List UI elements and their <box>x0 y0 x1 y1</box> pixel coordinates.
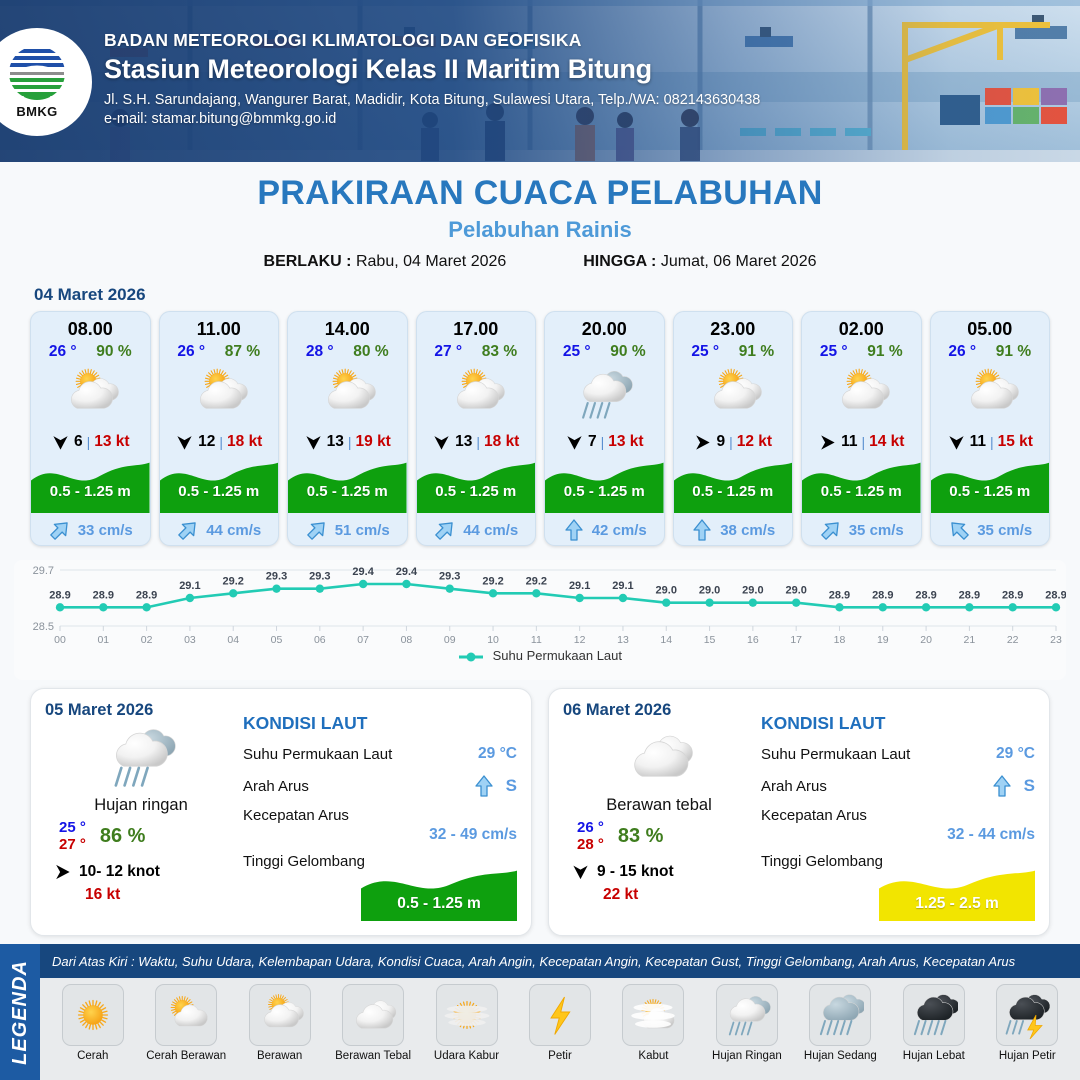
direction-arrow-icon <box>175 432 194 453</box>
panel-temps: 26 ° 28 ° <box>577 819 604 854</box>
svg-text:04: 04 <box>227 634 239 646</box>
valid-until-value: Jumat, 06 Maret 2026 <box>661 253 817 270</box>
svg-text:15: 15 <box>704 634 716 646</box>
current-dir-label: Arah Arus <box>243 778 472 795</box>
legend-item-label: Berawan Tebal <box>335 1050 411 1063</box>
svg-text:28.9: 28.9 <box>959 589 980 601</box>
station-address: Jl. S.H. Sarundajang, Wangurer Barat, Ma… <box>104 92 760 108</box>
card-humidity: 91 % <box>996 343 1031 361</box>
card-current-speed: 42 cm/s <box>592 522 647 539</box>
card-current-speed: 35 cm/s <box>849 522 904 539</box>
card-wind-row: 12 | 18 kt <box>160 425 279 459</box>
svg-text:29.3: 29.3 <box>309 571 330 583</box>
valid-from-label: BERLAKU : <box>264 253 352 270</box>
svg-text:05: 05 <box>271 634 283 646</box>
legend-item-label: Cerah Berawan <box>146 1050 226 1063</box>
card-temp-hum-row: 25 ° 90 % <box>545 343 664 361</box>
svg-text:17: 17 <box>790 634 802 646</box>
card-current-speed: 44 cm/s <box>206 522 261 539</box>
panel-gust: 16 kt <box>45 886 237 904</box>
card-wave: 0.5 - 1.25 m <box>674 457 793 523</box>
card-humidity: 91 % <box>867 343 902 361</box>
weather-icon-hujan-ringan <box>106 722 176 792</box>
legend-item: Udara Kabur <box>420 984 513 1063</box>
hourly-forecast-card: 17.00 27 ° 83 % <box>416 311 537 546</box>
card-wave-height: 0.5 - 1.25 m <box>931 483 1050 500</box>
card-humidity: 90 % <box>96 343 131 361</box>
card-wind-speed: 13 <box>455 433 472 451</box>
sst-value: 29 °C <box>996 745 1035 763</box>
svg-text:22: 22 <box>1007 634 1019 646</box>
svg-text:10: 10 <box>487 634 499 646</box>
card-temperature: 26 ° <box>49 343 77 361</box>
card-time: 17.00 <box>417 319 536 340</box>
panel-wind-row: 10- 12 knot <box>45 862 237 882</box>
legend-item: Cerah Berawan <box>139 984 232 1063</box>
legend-item: Hujan Lebat <box>887 984 980 1063</box>
sst-chart: 29.728.500010203040506070809101112131415… <box>14 560 1066 680</box>
card-weather-icon <box>802 363 921 425</box>
svg-text:28.9: 28.9 <box>136 589 157 601</box>
card-wave: 0.5 - 1.25 m <box>288 457 407 523</box>
valid-from-value: Rabu, 04 Maret 2026 <box>356 253 506 270</box>
weather-icon-hujan-sedang <box>816 991 864 1039</box>
svg-text:29.1: 29.1 <box>179 580 200 592</box>
direction-arrow-icon <box>51 432 70 453</box>
card-wave-height: 0.5 - 1.25 m <box>160 483 279 500</box>
sst-label: Suhu Permukaan Laut <box>243 746 478 763</box>
card-gust: 12 kt <box>737 433 772 451</box>
direction-arrow-icon <box>571 862 590 882</box>
legend-item: Berawan Tebal <box>326 984 419 1063</box>
card-wind-speed: 13 <box>327 433 344 451</box>
card-time: 14.00 <box>288 319 407 340</box>
card-wind-speed: 6 <box>74 433 83 451</box>
svg-text:06: 06 <box>314 634 326 646</box>
sst-label: Suhu Permukaan Laut <box>761 746 996 763</box>
sst-value: 29 °C <box>478 745 517 763</box>
legend-icon-box <box>996 984 1058 1046</box>
card-separator: | <box>729 434 733 450</box>
panel-wind-row: 9 - 15 knot <box>563 862 755 882</box>
hourly-forecast-card: 20.00 25 ° 90 % <box>544 311 665 546</box>
card-humidity: 80 % <box>353 343 388 361</box>
panel-humidity: 86 % <box>100 825 146 848</box>
card-wave-height: 0.5 - 1.25 m <box>802 483 921 500</box>
svg-text:00: 00 <box>54 634 66 646</box>
hourly-forecast-card: 14.00 28 ° 80 % <box>287 311 408 546</box>
direction-arrow-icon <box>947 432 966 453</box>
panel-weather-icon <box>563 722 755 792</box>
svg-text:29.1: 29.1 <box>569 580 590 592</box>
legend-side-label: LEGENDA <box>9 960 32 1065</box>
card-current-speed: 33 cm/s <box>78 522 133 539</box>
weather-icon-hujan-lebat <box>910 991 958 1039</box>
card-temp-hum-row: 25 ° 91 % <box>674 343 793 361</box>
legend-item-label: Udara Kabur <box>434 1050 499 1063</box>
panel-weather-icon <box>45 722 237 792</box>
card-wave: 0.5 - 1.25 m <box>802 457 921 523</box>
svg-text:12: 12 <box>574 634 586 646</box>
card-time: 11.00 <box>160 319 279 340</box>
panel-temp-min: 26 ° <box>577 819 604 836</box>
card-wind-row: 6 | 13 kt <box>31 425 150 459</box>
legend-item-label: Kabut <box>638 1050 668 1063</box>
card-temp-hum-row: 28 ° 80 % <box>288 343 407 361</box>
card-wave-height: 0.5 - 1.25 m <box>31 483 150 500</box>
card-wave: 0.5 - 1.25 m <box>160 457 279 523</box>
card-wind-row: 13 | 19 kt <box>288 425 407 459</box>
svg-text:28.9: 28.9 <box>872 589 893 601</box>
hourly-forecast-card: 23.00 25 ° 91 % <box>673 311 794 546</box>
svg-text:14: 14 <box>660 634 672 646</box>
card-humidity: 87 % <box>225 343 260 361</box>
header-text-block: BADAN METEOROLOGI KLIMATOLOGI DAN GEOFIS… <box>104 30 760 127</box>
legend-item: Cerah <box>46 984 139 1063</box>
bmkg-logo-mark <box>6 45 68 103</box>
card-weather-icon <box>288 363 407 425</box>
svg-text:28.9: 28.9 <box>915 589 936 601</box>
card-temperature: 28 ° <box>306 343 334 361</box>
svg-text:01: 01 <box>97 634 109 646</box>
card-wave-height: 0.5 - 1.25 m <box>674 483 793 500</box>
card-wind-speed: 7 <box>588 433 597 451</box>
panel-date: 06 Maret 2026 <box>563 701 755 720</box>
legend-note: Dari Atas Kiri : Waktu, Suhu Udara, Kele… <box>40 944 1080 978</box>
page-title: PRAKIRAAN CUACA PELABUHAN <box>0 174 1080 213</box>
sea-condition-title: KONDISI LAUT <box>761 713 1035 734</box>
legend-item-label: Hujan Lebat <box>903 1050 965 1063</box>
panel-wave-box: 1.25 - 2.5 m <box>879 865 1035 921</box>
svg-text:02: 02 <box>141 634 153 646</box>
card-weather-icon <box>674 363 793 425</box>
weather-icon-udara-kabur <box>443 991 491 1039</box>
card-wave: 0.5 - 1.25 m <box>417 457 536 523</box>
agency-name: BADAN METEOROLOGI KLIMATOLOGI DAN GEOFIS… <box>104 30 760 51</box>
validity-row: BERLAKU : Rabu, 04 Maret 2026 HINGGA : J… <box>0 253 1080 271</box>
direction-arrow-icon <box>53 862 72 882</box>
card-gust: 13 kt <box>608 433 643 451</box>
svg-text:29.4: 29.4 <box>396 566 418 578</box>
card-temperature: 26 ° <box>948 343 976 361</box>
svg-text:29.2: 29.2 <box>526 575 547 587</box>
card-temperature: 25 ° <box>563 343 591 361</box>
legend-icon-box <box>436 984 498 1046</box>
hourly-forecast-card: 11.00 26 ° 87 % <box>159 311 280 546</box>
weather-icon-berawan <box>704 365 762 423</box>
svg-text:29.0: 29.0 <box>742 585 763 597</box>
card-separator: | <box>348 434 352 450</box>
card-weather-icon <box>160 363 279 425</box>
page-subtitle: Pelabuhan Rainis <box>0 217 1080 243</box>
svg-text:16: 16 <box>747 634 759 646</box>
card-temp-hum-row: 26 ° 90 % <box>31 343 150 361</box>
current-speed-value: 32 - 44 cm/s <box>761 826 1035 844</box>
card-temperature: 25 ° <box>691 343 719 361</box>
card-weather-icon <box>417 363 536 425</box>
current-speed-label: Kecepatan Arus <box>243 807 517 824</box>
daily-summary-row: 05 Maret 2026 Hujan ringan 25 ° <box>0 680 1080 936</box>
current-dir-row: Arah Arus S <box>243 774 517 798</box>
svg-text:13: 13 <box>617 634 629 646</box>
svg-text:21: 21 <box>964 634 976 646</box>
svg-text:28.5: 28.5 <box>33 621 54 633</box>
weather-icon-berawan <box>318 365 376 423</box>
card-wave-height: 0.5 - 1.25 m <box>545 483 664 500</box>
card-wind-speed: 12 <box>198 433 215 451</box>
legend-marker-icon <box>458 651 484 663</box>
card-current-speed: 44 cm/s <box>463 522 518 539</box>
card-wind-row: 11 | 14 kt <box>802 425 921 459</box>
svg-text:29.3: 29.3 <box>266 571 287 583</box>
panel-wave-value: 0.5 - 1.25 m <box>361 895 517 913</box>
card-temperature: 27 ° <box>434 343 462 361</box>
svg-text:28.9: 28.9 <box>1045 589 1066 601</box>
legend-item: Petir <box>513 984 606 1063</box>
card-temperature: 26 ° <box>177 343 205 361</box>
legend-item-label: Berawan <box>257 1050 302 1063</box>
card-weather-icon <box>545 363 664 425</box>
card-time: 02.00 <box>802 319 921 340</box>
weather-icon-berawan <box>832 365 890 423</box>
svg-text:29.4: 29.4 <box>352 566 374 578</box>
legend-icon-box <box>716 984 778 1046</box>
legend-item-label: Hujan Sedang <box>804 1050 877 1063</box>
svg-text:11: 11 <box>531 634 542 646</box>
svg-text:28.9: 28.9 <box>1002 589 1023 601</box>
hourly-forecast-card: 02.00 25 ° 91 % <box>801 311 922 546</box>
panel-wave-value: 1.25 - 2.5 m <box>879 895 1035 913</box>
hourly-forecast-card: 05.00 26 ° 91 % <box>930 311 1051 546</box>
forecast-day-label: 04 Maret 2026 <box>34 285 1080 305</box>
svg-text:29.0: 29.0 <box>656 585 677 597</box>
direction-arrow-icon <box>432 432 451 453</box>
weather-icon-berawan <box>61 365 119 423</box>
panel-temp-hum: 26 ° 28 ° 83 % <box>563 819 755 854</box>
weather-icon-hujan-petir <box>1003 991 1051 1039</box>
weather-icon-cerah-berawan <box>162 991 210 1039</box>
current-speed-label: Kecepatan Arus <box>761 807 1035 824</box>
card-wind-row: 11 | 15 kt <box>931 425 1050 459</box>
card-current-speed: 38 cm/s <box>720 522 775 539</box>
svg-text:18: 18 <box>834 634 846 646</box>
svg-text:29.2: 29.2 <box>482 575 503 587</box>
card-weather-icon <box>31 363 150 425</box>
panel-temp-max: 27 ° <box>59 836 86 853</box>
legend-icon-box <box>342 984 404 1046</box>
card-separator: | <box>219 434 223 450</box>
card-current-speed: 35 cm/s <box>977 522 1032 539</box>
card-separator: | <box>87 434 91 450</box>
card-wave: 0.5 - 1.25 m <box>931 457 1050 523</box>
card-separator: | <box>476 434 480 450</box>
card-wind-speed: 9 <box>716 433 725 451</box>
card-wave-height: 0.5 - 1.25 m <box>288 483 407 500</box>
hourly-forecast-card: 08.00 26 ° 90 % <box>30 311 151 546</box>
card-wind-row: 9 | 12 kt <box>674 425 793 459</box>
legend-icon-box <box>622 984 684 1046</box>
weather-icon-berawan-tebal <box>349 991 397 1039</box>
legend-icon-box <box>903 984 965 1046</box>
weather-icon-hujan-ringan <box>575 365 633 423</box>
sst-row: Suhu Permukaan Laut 29 °C <box>761 745 1035 763</box>
current-speed-value: 32 - 49 cm/s <box>243 826 517 844</box>
panel-right: KONDISI LAUT Suhu Permukaan Laut 29 °C A… <box>237 701 517 923</box>
current-dir-value: S <box>1024 776 1035 796</box>
weather-icon-hujan-ringan <box>723 991 771 1039</box>
card-temp-hum-row: 25 ° 91 % <box>802 343 921 361</box>
card-time: 20.00 <box>545 319 664 340</box>
card-time: 08.00 <box>31 319 150 340</box>
weather-icon-berawan <box>961 365 1019 423</box>
legend-item: Hujan Sedang <box>794 984 887 1063</box>
direction-arrow-icon <box>693 432 712 453</box>
current-dir-row: Arah Arus S <box>761 774 1035 798</box>
panel-wind-range: 9 - 15 knot <box>597 863 674 881</box>
card-weather-icon <box>931 363 1050 425</box>
card-current-speed: 51 cm/s <box>335 522 390 539</box>
sst-row: Suhu Permukaan Laut 29 °C <box>243 745 517 763</box>
card-wave: 0.5 - 1.25 m <box>545 457 664 523</box>
legend-icon-box <box>529 984 591 1046</box>
weather-icon-berawan <box>190 365 248 423</box>
card-time: 05.00 <box>931 319 1050 340</box>
panel-temps: 25 ° 27 ° <box>59 819 86 854</box>
panel-wave-box: 0.5 - 1.25 m <box>361 865 517 921</box>
hourly-forecast-row: 08.00 26 ° 90 % <box>0 311 1080 546</box>
weather-icon-berawan <box>256 991 304 1039</box>
page-header: BMKG BADAN METEOROLOGI KLIMATOLOGI DAN G… <box>0 0 1080 162</box>
station-name: Stasiun Meteorologi Kelas II Maritim Bit… <box>104 54 760 85</box>
weather-icon-berawan-tebal <box>624 722 694 792</box>
panel-left: 06 Maret 2026 Berawan tebal 26 ° <box>563 701 755 923</box>
current-direction-icon <box>472 774 496 798</box>
panel-temp-min: 25 ° <box>59 819 86 836</box>
card-humidity: 91 % <box>739 343 774 361</box>
svg-text:28.9: 28.9 <box>829 589 850 601</box>
card-wave-height: 0.5 - 1.25 m <box>417 483 536 500</box>
current-direction-icon <box>990 774 1014 798</box>
svg-text:29.0: 29.0 <box>785 585 806 597</box>
direction-arrow-icon <box>565 432 584 453</box>
card-wind-speed: 11 <box>970 433 986 451</box>
panel-left: 05 Maret 2026 Hujan ringan 25 ° <box>45 701 237 923</box>
daily-forecast-panel: 05 Maret 2026 Hujan ringan 25 ° <box>30 688 532 936</box>
svg-text:28.9: 28.9 <box>49 589 70 601</box>
svg-text:29.0: 29.0 <box>699 585 720 597</box>
legend-item-label: Hujan Ringan <box>712 1050 782 1063</box>
card-humidity: 83 % <box>482 343 517 361</box>
card-gust: 13 kt <box>94 433 129 451</box>
panel-condition: Berawan tebal <box>563 796 755 815</box>
svg-text:29.3: 29.3 <box>439 571 460 583</box>
svg-text:19: 19 <box>877 634 889 646</box>
svg-text:28.9: 28.9 <box>93 589 114 601</box>
card-wind-row: 7 | 13 kt <box>545 425 664 459</box>
svg-text:09: 09 <box>444 634 456 646</box>
panel-condition: Hujan ringan <box>45 796 237 815</box>
card-temperature: 25 ° <box>820 343 848 361</box>
card-temp-hum-row: 26 ° 87 % <box>160 343 279 361</box>
station-email: e-mail: stamar.bitung@bmmkg.go.id <box>104 111 760 127</box>
svg-text:29.2: 29.2 <box>223 575 244 587</box>
current-dir-value: S <box>506 776 517 796</box>
svg-text:29.1: 29.1 <box>612 580 633 592</box>
direction-arrow-icon <box>818 432 837 453</box>
svg-text:29.7: 29.7 <box>33 565 54 577</box>
card-temp-hum-row: 27 ° 83 % <box>417 343 536 361</box>
card-wind-speed: 11 <box>841 433 857 451</box>
card-time: 23.00 <box>674 319 793 340</box>
legend-side-bar: LEGENDA <box>0 944 40 1080</box>
valid-until-label: HINGGA : <box>583 253 656 270</box>
panel-date: 05 Maret 2026 <box>45 701 237 720</box>
legend-items-row: Cerah Cerah Berawan <box>40 978 1080 1080</box>
legend-item: Hujan Ringan <box>700 984 793 1063</box>
panel-humidity: 83 % <box>618 825 664 848</box>
sst-chart-svg: 29.728.500010203040506070809101112131415… <box>14 560 1066 652</box>
svg-text:20: 20 <box>920 634 932 646</box>
chart-legend: Suhu Permukaan Laut <box>14 648 1066 663</box>
legend-icon-box <box>249 984 311 1046</box>
weather-icon-kabut <box>629 991 677 1039</box>
legend-item-label: Cerah <box>77 1050 108 1063</box>
panel-temp-hum: 25 ° 27 ° 86 % <box>45 819 237 854</box>
direction-arrow-icon <box>304 432 323 453</box>
weather-icon-petir <box>536 991 584 1039</box>
card-gust: 14 kt <box>869 433 904 451</box>
legend-item: Kabut <box>607 984 700 1063</box>
card-wind-row: 13 | 18 kt <box>417 425 536 459</box>
card-gust: 15 kt <box>998 433 1033 451</box>
panel-right: KONDISI LAUT Suhu Permukaan Laut 29 °C A… <box>755 701 1035 923</box>
card-separator: | <box>601 434 605 450</box>
card-wave: 0.5 - 1.25 m <box>31 457 150 523</box>
weather-icon-berawan <box>447 365 505 423</box>
chart-legend-label: Suhu Permukaan Laut <box>493 648 622 663</box>
card-gust: 19 kt <box>356 433 391 451</box>
svg-text:08: 08 <box>401 634 413 646</box>
legend-item: Berawan <box>233 984 326 1063</box>
panel-wind-range: 10- 12 knot <box>79 863 160 881</box>
legend-icon-box <box>809 984 871 1046</box>
svg-text:23: 23 <box>1050 634 1062 646</box>
card-separator: | <box>861 434 865 450</box>
sea-condition-title: KONDISI LAUT <box>243 713 517 734</box>
daily-forecast-panel: 06 Maret 2026 Berawan tebal 26 ° <box>548 688 1050 936</box>
svg-text:07: 07 <box>357 634 369 646</box>
legend-item-label: Petir <box>548 1050 572 1063</box>
panel-temp-max: 28 ° <box>577 836 604 853</box>
title-block: PRAKIRAAN CUACA PELABUHAN Pelabuhan Rain… <box>0 162 1080 271</box>
legend-item: Hujan Petir <box>981 984 1074 1063</box>
card-gust: 18 kt <box>484 433 519 451</box>
legend-item-label: Hujan Petir <box>999 1050 1056 1063</box>
svg-text:03: 03 <box>184 634 196 646</box>
panel-gust: 22 kt <box>563 886 755 904</box>
card-temp-hum-row: 26 ° 91 % <box>931 343 1050 361</box>
bmkg-logo-text: BMKG <box>16 104 57 119</box>
card-humidity: 90 % <box>610 343 645 361</box>
weather-icon-cerah <box>69 991 117 1039</box>
card-gust: 18 kt <box>227 433 262 451</box>
current-dir-value-group: S <box>472 774 517 798</box>
current-dir-label: Arah Arus <box>761 778 990 795</box>
legend-icon-box <box>155 984 217 1046</box>
legend-icon-box <box>62 984 124 1046</box>
current-dir-value-group: S <box>990 774 1035 798</box>
legend-section: LEGENDA Dari Atas Kiri : Waktu, Suhu Uda… <box>0 944 1080 1080</box>
